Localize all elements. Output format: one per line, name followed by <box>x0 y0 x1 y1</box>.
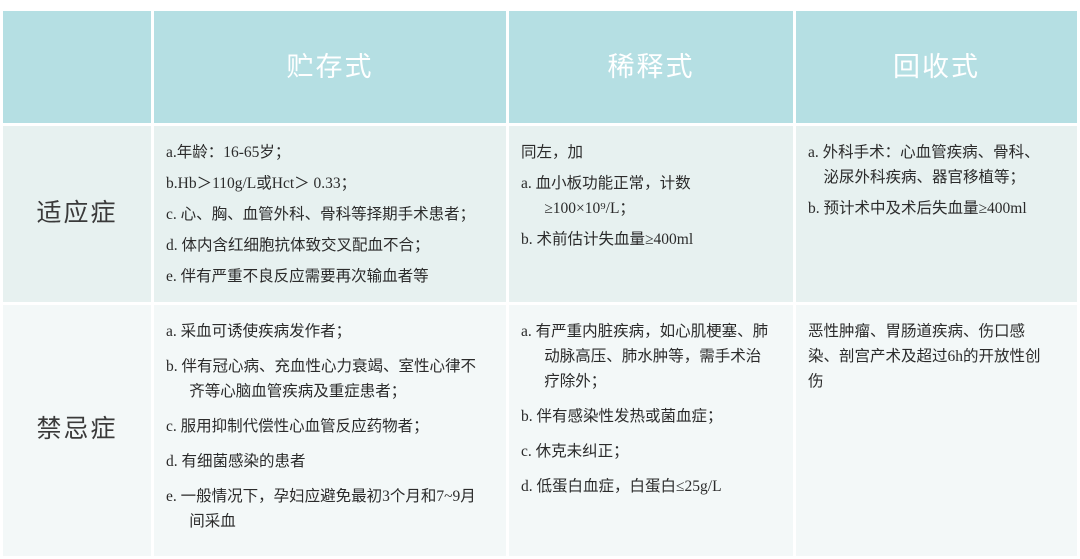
item-list: a. 有严重内脏疾病，如心肌梗塞、肺 动脉高压、肺水肿等，需手术治 疗除外； b… <box>521 319 783 500</box>
row-header-label-1: 禁忌症 <box>3 414 151 447</box>
column-header-3: 回收式 <box>796 11 1077 123</box>
column-header-1: 贮存式 <box>154 11 506 123</box>
list-item: c. 心、胸、血管外科、骨科等择期手术患者； <box>166 202 496 227</box>
list-item: a. 血小板功能正常，计数 ≥100×10⁹/L； <box>521 171 783 221</box>
cell-indications-storage: a.年龄：16-65岁； b.Hb＞110g/L或Hct＞ 0.33； c. 心… <box>154 126 506 302</box>
table-corner-cell <box>3 11 151 123</box>
list-item: a.年龄：16-65岁； <box>166 140 496 165</box>
list-item: a. 采血可诱使疾病发作者； <box>166 319 496 344</box>
column-header-label-1: 贮存式 <box>154 51 506 83</box>
cell-contraindications-dilution: a. 有严重内脏疾病，如心肌梗塞、肺 动脉高压、肺水肿等，需手术治 疗除外； b… <box>509 305 793 557</box>
list-item: d. 低蛋白血症，白蛋白≤25g/L <box>521 474 783 499</box>
column-header-2: 稀释式 <box>509 11 793 123</box>
autologous-transfusion-comparison-table: 贮存式 稀释式 回收式 适应症 a.年龄：16-65岁； <box>0 8 1080 559</box>
column-header-label-3: 回收式 <box>796 51 1077 83</box>
list-item: e. 伴有严重不良反应需要再次输血者等 <box>166 264 496 289</box>
cell-lead-text: 同左，加 <box>521 140 783 165</box>
table-row: 禁忌症 a. 采血可诱使疾病发作者； b. 伴有冠心病、充血性心力衰竭、室性心律… <box>3 305 1077 557</box>
table-header-row: 贮存式 稀释式 回收式 <box>3 11 1077 123</box>
cell-indications-salvage: a. 外科手术：心血管疾病、骨科、 泌尿外科疾病、器官移植等； b. 预计术中及… <box>796 126 1077 302</box>
list-item: d. 有细菌感染的患者 <box>166 449 496 474</box>
item-list: a. 采血可诱使疾病发作者； b. 伴有冠心病、充血性心力衰竭、室性心律不 齐等… <box>166 319 496 535</box>
list-item: b. 伴有冠心病、充血性心力衰竭、室性心律不 齐等心脑血管疾病及重症患者； <box>166 354 496 404</box>
table-row: 适应症 a.年龄：16-65岁； b.Hb＞110g/L或Hct＞ 0.33； … <box>3 126 1077 302</box>
cell-indications-dilution: 同左，加 a. 血小板功能正常，计数 ≥100×10⁹/L； b. 术前估计失血… <box>509 126 793 302</box>
cell-contraindications-salvage: 恶性肿瘤、胃肠道疾病、伤口感 染、剖宫产术及超过6h的开放性创 伤 <box>796 305 1077 557</box>
row-header-contraindications: 禁忌症 <box>3 305 151 557</box>
list-item: a. 有严重内脏疾病，如心肌梗塞、肺 动脉高压、肺水肿等，需手术治 疗除外； <box>521 319 783 394</box>
list-item: c. 休克未纠正； <box>521 439 783 464</box>
list-item: b. 预计术中及术后失血量≥400ml <box>808 196 1067 221</box>
cell-contraindications-storage: a. 采血可诱使疾病发作者； b. 伴有冠心病、充血性心力衰竭、室性心律不 齐等… <box>154 305 506 557</box>
list-item: b.Hb＞110g/L或Hct＞ 0.33； <box>166 171 496 196</box>
cell-paragraph-text: 恶性肿瘤、胃肠道疾病、伤口感 染、剖宫产术及超过6h的开放性创 伤 <box>808 319 1067 394</box>
list-item: a. 外科手术：心血管疾病、骨科、 泌尿外科疾病、器官移植等； <box>808 140 1067 190</box>
item-list: a. 血小板功能正常，计数 ≥100×10⁹/L； b. 术前估计失血量≥400… <box>521 171 783 252</box>
item-list: a.年龄：16-65岁； b.Hb＞110g/L或Hct＞ 0.33； c. 心… <box>166 140 496 290</box>
item-list: a. 外科手术：心血管疾病、骨科、 泌尿外科疾病、器官移植等； b. 预计术中及… <box>808 140 1067 221</box>
comparison-table-container: 贮存式 稀释式 回收式 适应症 a.年龄：16-65岁； <box>0 0 1080 514</box>
list-item: e. 一般情况下，孕妇应避免最初3个月和7~9月 间采血 <box>166 484 496 534</box>
list-item: c. 服用抑制代偿性心血管反应药物者； <box>166 414 496 439</box>
row-header-indications: 适应症 <box>3 126 151 302</box>
list-item: b. 伴有感染性发热或菌血症； <box>521 404 783 429</box>
list-item: b. 术前估计失血量≥400ml <box>521 227 783 252</box>
column-header-label-2: 稀释式 <box>509 51 793 83</box>
list-item: d. 体内含红细胞抗体致交叉配血不合； <box>166 233 496 258</box>
row-header-label-0: 适应症 <box>3 198 151 231</box>
